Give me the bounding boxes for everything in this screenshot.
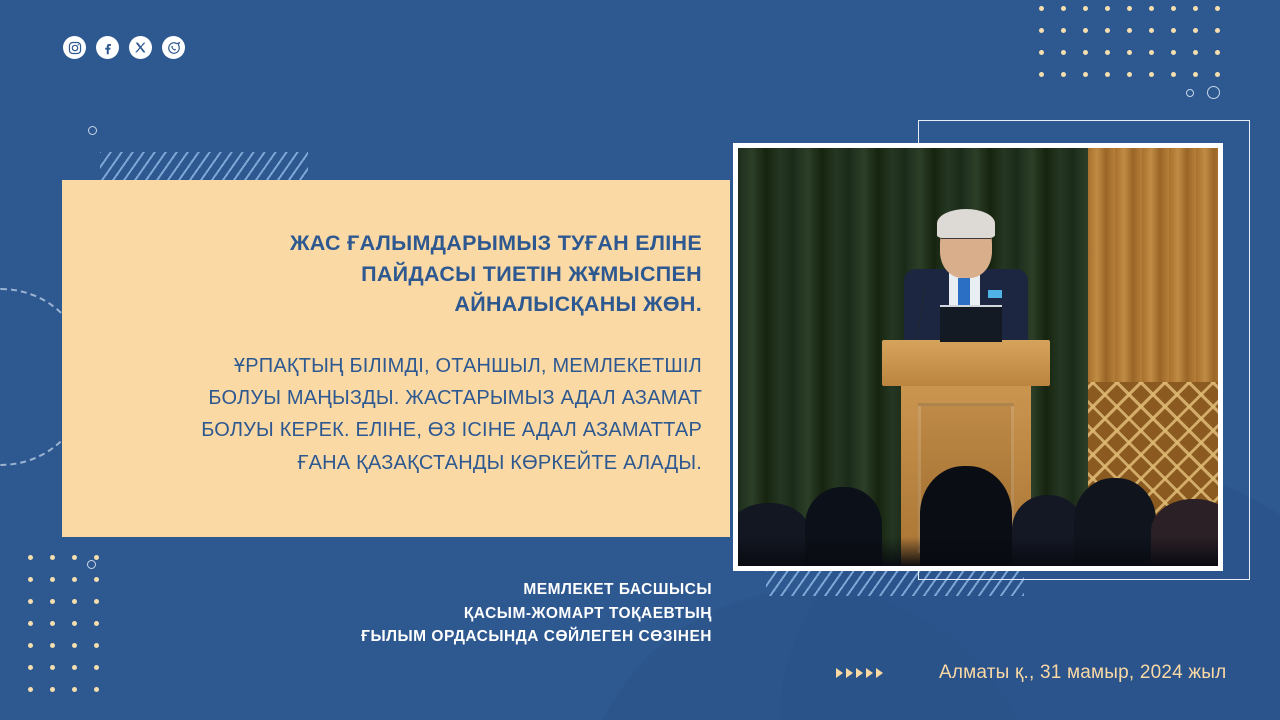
arrow-mark — [846, 668, 853, 678]
arrow-mark — [866, 668, 873, 678]
decor-dot — [1061, 6, 1066, 11]
quote-body: ҰРПАҚТЫҢ БІЛІМДІ, ОТАНШЫЛ, МЕМЛЕКЕТШІЛ Б… — [90, 350, 702, 480]
photo-laptop — [940, 305, 1002, 343]
decor-dot — [1171, 6, 1176, 11]
decor-dot — [1105, 72, 1110, 77]
photo-podium-top — [882, 340, 1050, 386]
decor-dot — [1215, 72, 1220, 77]
decor-dot — [72, 687, 77, 692]
speech-photo — [733, 143, 1223, 571]
decor-dot — [1149, 28, 1154, 33]
arrow-mark — [856, 668, 863, 678]
decor-dot — [1215, 28, 1220, 33]
decor-dot — [1083, 50, 1088, 55]
decor-dot — [1193, 72, 1198, 77]
dot-grid-top-right — [1039, 6, 1220, 77]
decor-dot — [1215, 6, 1220, 11]
decor-dot — [94, 665, 99, 670]
decor-dot — [1127, 50, 1132, 55]
decor-dot — [28, 665, 33, 670]
social-links-bar — [63, 36, 185, 59]
decor-dot — [50, 665, 55, 670]
decor-dot — [1105, 28, 1110, 33]
photo-flag-pin — [988, 290, 1002, 298]
facebook-icon[interactable] — [96, 36, 119, 59]
decor-dot — [1083, 72, 1088, 77]
arrow-mark — [876, 668, 883, 678]
decor-dot — [28, 555, 33, 560]
decor-dot — [50, 687, 55, 692]
decor-dot — [50, 555, 55, 560]
decor-dot — [1105, 6, 1110, 11]
quote-headline: ЖАС ҒАЛЫМДАРЫМЫЗ ТУҒАН ЕЛІНЕ ПАЙДАСЫ ТИЕ… — [90, 228, 702, 320]
photo-content — [738, 148, 1218, 566]
decor-dot — [1215, 50, 1220, 55]
decor-dot — [1127, 72, 1132, 77]
photo-speaker-glasses — [941, 238, 991, 248]
decor-dot — [1171, 72, 1176, 77]
quote-card: ЖАС ҒАЛЫМДАРЫМЫЗ ТУҒАН ЕЛІНЕ ПАЙДАСЫ ТИЕ… — [62, 180, 730, 537]
decor-dot — [1039, 6, 1044, 11]
date-label: Алматы қ., 31 мамыр, 2024 жыл — [939, 662, 1226, 684]
decor-dot — [1061, 50, 1066, 55]
decor-dot — [1127, 6, 1132, 11]
decor-dot — [1061, 72, 1066, 77]
decor-dot — [1193, 28, 1198, 33]
decor-dot — [1083, 28, 1088, 33]
date-strip: Алматы қ., 31 мамыр, 2024 жыл — [836, 662, 1226, 684]
decor-dot — [1193, 50, 1198, 55]
decor-dot — [28, 687, 33, 692]
circle-outline-decoration — [1207, 86, 1220, 99]
decor-dot — [1149, 50, 1154, 55]
arrow-mark — [836, 668, 843, 678]
instagram-icon[interactable] — [63, 36, 86, 59]
decor-dot — [72, 665, 77, 670]
circle-outline-decoration — [87, 560, 96, 569]
decor-dot — [1039, 72, 1044, 77]
decor-dot — [1105, 50, 1110, 55]
attribution-text: МЕМЛЕКЕТ БАСШЫСЫ ҚАСЫМ-ЖОМАРТ ТОҚАЕВТЫҢ … — [0, 578, 712, 649]
decor-dot — [1127, 28, 1132, 33]
x-twitter-icon[interactable] — [129, 36, 152, 59]
decor-dot — [1083, 6, 1088, 11]
photo-foreground-shadow — [738, 537, 1218, 566]
decor-dot — [1193, 6, 1198, 11]
decor-dot — [1061, 28, 1066, 33]
decor-dot — [1171, 50, 1176, 55]
decor-dot — [94, 555, 99, 560]
decor-dot — [72, 555, 77, 560]
decor-dot — [1149, 72, 1154, 77]
circle-outline-decoration — [88, 126, 97, 135]
decor-dot — [1039, 28, 1044, 33]
photo-speaker-hair — [937, 209, 996, 238]
decor-dot — [94, 687, 99, 692]
decor-dot — [1039, 50, 1044, 55]
circle-outline-decoration — [1186, 89, 1194, 97]
arrow-marks-icon — [836, 668, 883, 678]
decor-dot — [1171, 28, 1176, 33]
decor-dot — [1149, 6, 1154, 11]
whatsapp-icon[interactable] — [162, 36, 185, 59]
